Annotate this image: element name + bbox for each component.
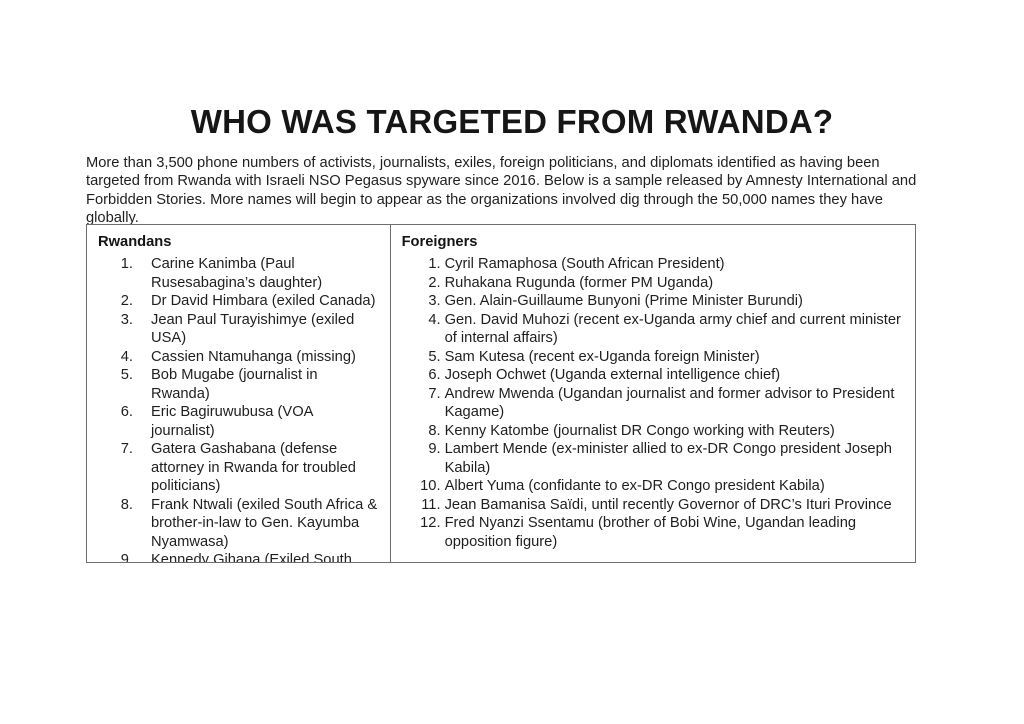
list-item-number: 9. [397,440,441,459]
column-heading-foreigners: Foreigners [402,233,909,252]
list-item-number: 3. [93,311,133,330]
list-item: 6.Eric Bagiruwubusa (VOA journalist) [93,403,384,440]
list-item-label: Gen. Alain-Guillaume Bunyoni (Prime Mini… [445,292,901,311]
list-item-number: 3. [397,292,441,311]
list-item-label: Cassien Ntamuhanga (missing) [151,348,380,367]
document-page: WHO WAS TARGETED FROM RWANDA? More than … [0,0,1024,724]
list-item: 2.Dr David Himbara (exiled Canada) [93,292,384,311]
list-item: 7.Andrew Mwenda (Ugandan journalist and … [397,385,909,422]
list-item-label: Carine Kanimba (Paul Rusesabagina’s daug… [151,255,380,292]
list-item: 11.Jean Bamanisa Saïdi, until recently G… [397,496,909,515]
list-item: 4.Gen. David Muhozi (recent ex-Uganda ar… [397,311,909,348]
list-item-label: Dr David Himbara (exiled Canada) [151,292,380,311]
list-item: 10.Albert Yuma (confidante to ex-DR Cong… [397,477,909,496]
list-item-label: Bob Mugabe (journalist in Rwanda) [151,366,380,403]
list-item-number: 7. [93,440,133,459]
list-item-number: 11. [397,496,441,515]
list-item: 5.Sam Kutesa (recent ex-Uganda foreign M… [397,348,909,367]
intro-paragraph: More than 3,500 phone numbers of activis… [86,154,937,228]
list-item-label: Gatera Gashabana (defense attorney in Rw… [151,440,380,496]
list-item: 3.Jean Paul Turayishimye (exiled USA) [93,311,384,348]
list-item-number: 5. [93,366,133,385]
list-item-label: Eric Bagiruwubusa (VOA journalist) [151,403,380,440]
list-item-label: Albert Yuma (confidante to ex-DR Congo p… [445,477,901,496]
list-item: 9.Kennedy Gihana (Exiled South Africa) [93,551,384,562]
table-column-foreigners: Foreigners 1.Cyril Ramaphosa (South Afri… [391,225,915,562]
list-item-label: Lambert Mende (ex-minister allied to ex-… [445,440,901,477]
list-item-number: 6. [397,366,441,385]
list-item: 6.Joseph Ochwet (Uganda external intelli… [397,366,909,385]
list-item-label: Joseph Ochwet (Uganda external intellige… [445,366,901,385]
list-item-label: Ruhakana Rugunda (former PM Uganda) [445,274,901,293]
list-item-label: Jean Paul Turayishimye (exiled USA) [151,311,380,348]
list-item-label: Sam Kutesa (recent ex-Uganda foreign Min… [445,348,901,367]
list-item-label: Cyril Ramaphosa (South African President… [445,255,901,274]
list-item-number: 4. [397,311,441,330]
list-item: 8.Frank Ntwali (exiled South Africa & br… [93,496,384,552]
list-item-number: 8. [397,422,441,441]
list-item-label: Kenny Katombe (journalist DR Congo worki… [445,422,901,441]
list-item-label: Kennedy Gihana (Exiled South Africa) [151,551,380,562]
column-heading-rwandans: Rwandans [98,233,384,252]
foreigners-list: 1.Cyril Ramaphosa (South African Preside… [397,255,909,551]
list-item-label: Jean Bamanisa Saïdi, until recently Gove… [445,496,901,515]
list-item-number: 5. [397,348,441,367]
table-column-rwandans: Rwandans 1.Carine Kanimba (Paul Rusesaba… [87,225,391,562]
list-item: 12.Fred Nyanzi Ssentamu (brother of Bobi… [397,514,909,551]
rwandans-list: 1.Carine Kanimba (Paul Rusesabagina’s da… [93,255,384,562]
list-item-label: Andrew Mwenda (Ugandan journalist and fo… [445,385,901,422]
page-title: WHO WAS TARGETED FROM RWANDA? [0,104,1024,141]
list-item-number: 8. [93,496,133,515]
list-item: 1.Cyril Ramaphosa (South African Preside… [397,255,909,274]
list-item-number: 2. [397,274,441,293]
list-item: 2.Ruhakana Rugunda (former PM Uganda) [397,274,909,293]
list-item-number: 1. [93,255,133,274]
list-item-number: 4. [93,348,133,367]
list-item: 1.Carine Kanimba (Paul Rusesabagina’s da… [93,255,384,292]
list-item-label: Fred Nyanzi Ssentamu (brother of Bobi Wi… [445,514,901,551]
list-item-number: 1. [397,255,441,274]
targets-table: Rwandans 1.Carine Kanimba (Paul Rusesaba… [86,224,916,563]
list-item-number: 2. [93,292,133,311]
list-item-number: 6. [93,403,133,422]
list-item: 4.Cassien Ntamuhanga (missing) [93,348,384,367]
list-item: 5.Bob Mugabe (journalist in Rwanda) [93,366,384,403]
list-item-number: 9. [93,551,133,562]
list-item: 3.Gen. Alain-Guillaume Bunyoni (Prime Mi… [397,292,909,311]
list-item-label: Gen. David Muhozi (recent ex-Uganda army… [445,311,901,348]
list-item: 9.Lambert Mende (ex-minister allied to e… [397,440,909,477]
list-item-number: 7. [397,385,441,404]
list-item: 7.Gatera Gashabana (defense attorney in … [93,440,384,496]
list-item-number: 12. [397,514,441,533]
list-item-label: Frank Ntwali (exiled South Africa & brot… [151,496,380,552]
list-item: 8.Kenny Katombe (journalist DR Congo wor… [397,422,909,441]
list-item-number: 10. [397,477,441,496]
